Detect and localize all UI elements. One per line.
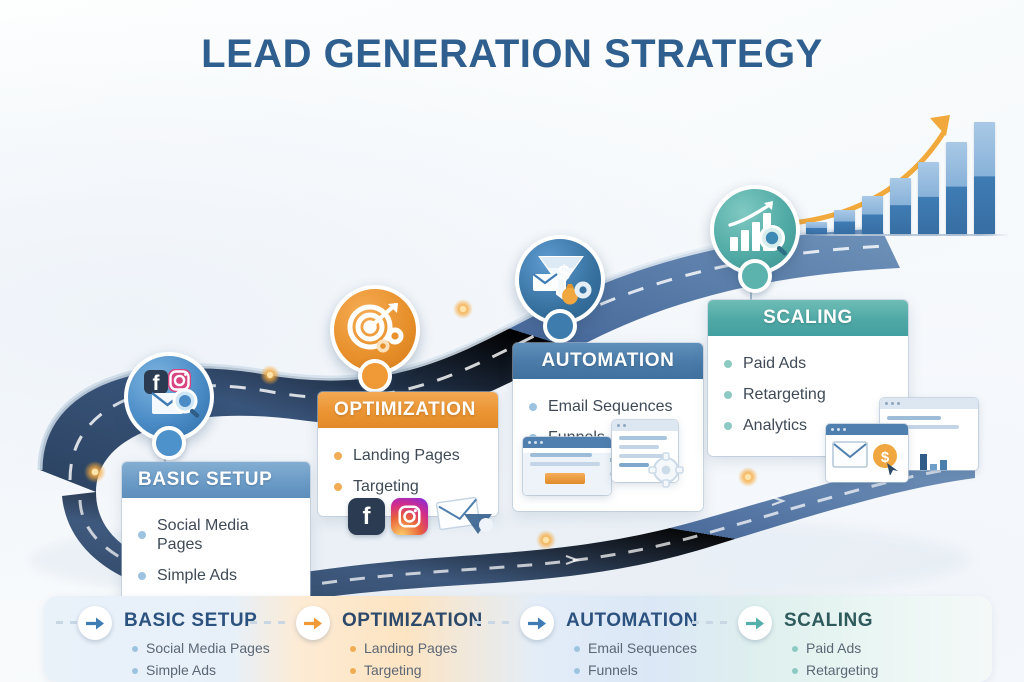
bullet-dot [334, 452, 342, 460]
list-item: Funnels [574, 660, 697, 682]
list-item-label: Simple Ads [157, 566, 237, 585]
bullet-dot [138, 531, 146, 539]
legend-stage-items: Social Media Pages Simple Ads [132, 638, 270, 681]
facebook-icon: f [348, 498, 385, 535]
list-item-label: Paid Ads [743, 354, 806, 373]
list-item-label: Email Sequences [588, 638, 697, 660]
legend-stage-scaling[interactable]: SCALING Paid Ads Retargeting [724, 596, 974, 682]
legend-stage-title: SCALING [784, 610, 873, 632]
chart-bar [806, 222, 827, 234]
page-title: LEAD GENERATION STRATEGY [0, 32, 1024, 77]
bullet-dot [529, 403, 537, 411]
legend-stage-items: Email Sequences Funnels [574, 638, 697, 681]
stage-badge-automation[interactable]: $ [515, 235, 605, 325]
legend-arrow-icon[interactable] [78, 606, 112, 640]
stage-card-title: SCALING [708, 300, 908, 336]
list-item: Simple Ads [132, 660, 270, 682]
bullet-dot [334, 483, 342, 491]
magnifier-icon [174, 390, 200, 419]
legend-arrow-icon[interactable] [738, 606, 772, 640]
list-item-label: Retargeting [806, 660, 878, 682]
magnifier-icon [761, 227, 788, 257]
legend-stage-title: AUTOMATION [566, 610, 698, 632]
bullet-dot [724, 391, 732, 399]
instagram-icon [391, 498, 428, 535]
envelope-icon [832, 441, 868, 469]
list-item: Landing Pages [334, 440, 482, 471]
badge-pin [543, 309, 577, 343]
landing-page-mockup [523, 437, 611, 495]
legend-stage-items: Paid Ads Retargeting [792, 638, 878, 681]
list-item: Simple Ads [138, 560, 294, 591]
stage-card-title: AUTOMATION [513, 343, 703, 379]
badge-pin [358, 359, 392, 393]
list-item: Landing Pages [350, 638, 457, 660]
list-item-label: Social Media Pages [157, 516, 294, 554]
window-titlebar [612, 420, 678, 431]
list-item-label: Email Sequences [548, 397, 673, 416]
list-item-label: Paid Ads [806, 638, 861, 660]
list-item: Social Media Pages [138, 510, 294, 560]
list-item-label: Targeting [364, 660, 422, 682]
chart-bar [946, 142, 967, 234]
badge-pin [738, 259, 772, 293]
list-item: Retargeting [792, 660, 878, 682]
bullet-dot [132, 646, 138, 652]
bullet-dot [792, 668, 798, 674]
list-item-label: Social Media Pages [146, 638, 270, 660]
envelope-icon [533, 274, 557, 291]
legend-stage-title: BASIC SETUP [124, 610, 257, 632]
list-item: Email Sequences [574, 638, 697, 660]
legend-stage-title: OPTIMIZATION [342, 610, 483, 632]
list-item: Paid Ads [792, 638, 878, 660]
legend-stage-basic-setup[interactable]: BASIC SETUP Social Media Pages Simple Ad… [62, 596, 302, 682]
bullet-dot [574, 646, 580, 652]
envelope-icon [434, 494, 496, 540]
bullet-dot [792, 646, 798, 652]
stage-card-title: OPTIMIZATION [318, 392, 498, 428]
stage-badge-scaling[interactable] [710, 185, 800, 275]
infographic-canvas: LEAD GENERATION STRATEGY [0, 0, 1024, 682]
bullet-dot [350, 646, 356, 652]
chart-bar [918, 162, 939, 234]
list-item: Social Media Pages [132, 638, 270, 660]
legend-stage-optimization[interactable]: OPTIMIZATION Landing Pages Targeting [282, 596, 532, 682]
list-item-label: Funnels [588, 660, 638, 682]
chart-bar [974, 122, 995, 234]
stage-card-title: BASIC SETUP [122, 462, 310, 498]
gear-icon [648, 452, 684, 488]
chart-bar [862, 196, 883, 234]
stage-legend-bar: BASIC SETUP Social Media Pages Simple Ad… [44, 596, 992, 682]
chart-baseline [802, 234, 1010, 236]
stage-badge-basic-setup[interactable]: f [124, 352, 214, 442]
svg-text:$: $ [881, 449, 890, 466]
coin-dollar-icon: $ [870, 441, 904, 475]
growth-bar-chart [806, 110, 1006, 234]
list-item-label: Landing Pages [353, 446, 460, 465]
list-item-label: Landing Pages [364, 638, 457, 660]
chart-bar [834, 210, 855, 234]
legend-arrow-icon[interactable] [520, 606, 554, 640]
list-item-label: Retargeting [743, 385, 826, 404]
list-item-label: Analytics [743, 416, 807, 435]
legend-stage-items: Landing Pages Targeting [350, 638, 457, 681]
svg-text:f: f [153, 372, 161, 395]
stage-card-basic-setup[interactable]: BASIC SETUP Social Media Pages Simple Ad… [122, 462, 310, 606]
list-item-label: Targeting [353, 477, 419, 496]
dollar-icon: $ [558, 262, 570, 285]
list-item: Retargeting [724, 379, 892, 410]
list-item: Email Sequences [529, 391, 687, 422]
chart-bar [890, 178, 911, 234]
gear-icon [575, 282, 592, 299]
bullet-dot [132, 668, 138, 674]
list-item: Paid Ads [724, 348, 892, 379]
window-titlebar [523, 437, 611, 448]
list-item-label: Simple Ads [146, 660, 216, 682]
window-titlebar [880, 398, 978, 409]
stage-badge-optimization[interactable] [330, 285, 420, 375]
email-monetization-mockup: $ [826, 424, 908, 482]
bullet-dot [724, 360, 732, 368]
list-item: Targeting [350, 660, 457, 682]
bullet-dot [724, 422, 732, 430]
bullet-dot [574, 668, 580, 674]
stage-card-items: Social Media Pages Simple Ads [122, 498, 310, 606]
legend-arrow-icon[interactable] [296, 606, 330, 640]
window-titlebar [826, 424, 908, 435]
legend-stage-automation[interactable]: AUTOMATION Email Sequences Funnels [506, 596, 756, 682]
bullet-dot [350, 668, 356, 674]
badge-pin [152, 426, 186, 460]
bullet-dot [138, 572, 146, 580]
